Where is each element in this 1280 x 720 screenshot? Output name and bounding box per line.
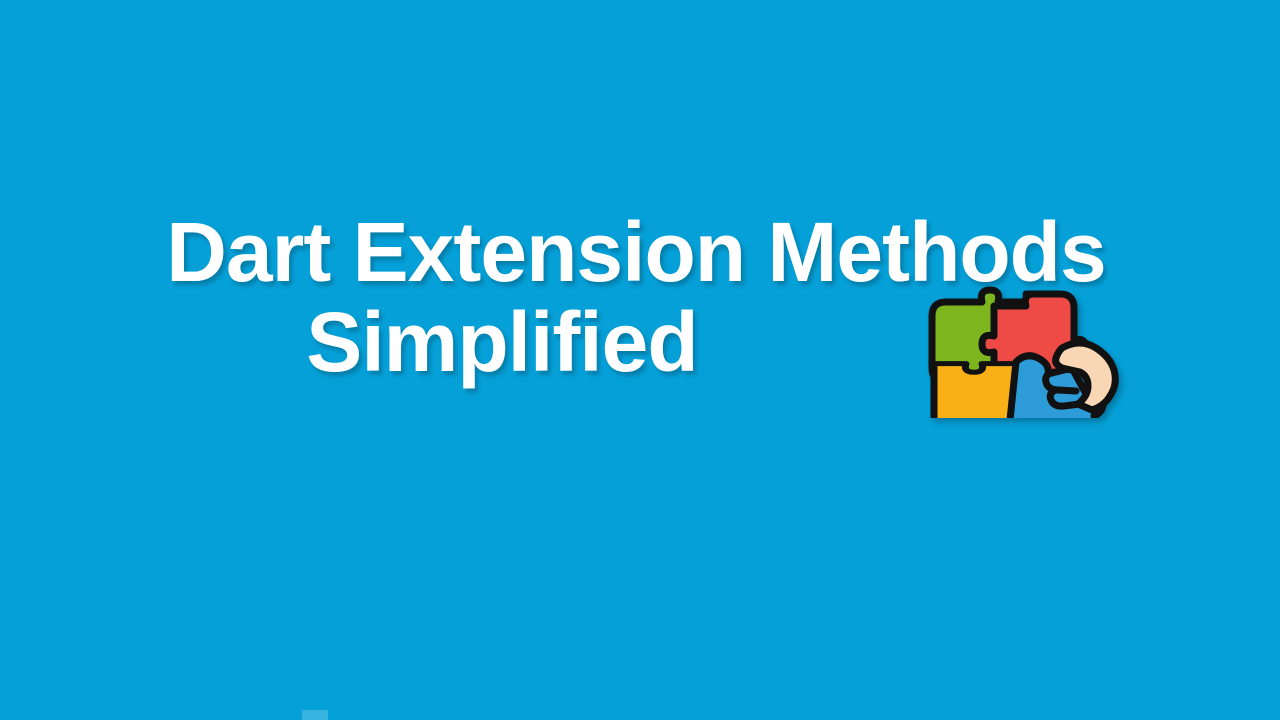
icon-row	[0, 450, 1280, 620]
puzzle-pieces-hand-icon	[912, 276, 1124, 418]
bottom-edge-artifact	[302, 710, 328, 720]
slide-canvas: Dart Extension Methods Simplified	[0, 0, 1280, 720]
